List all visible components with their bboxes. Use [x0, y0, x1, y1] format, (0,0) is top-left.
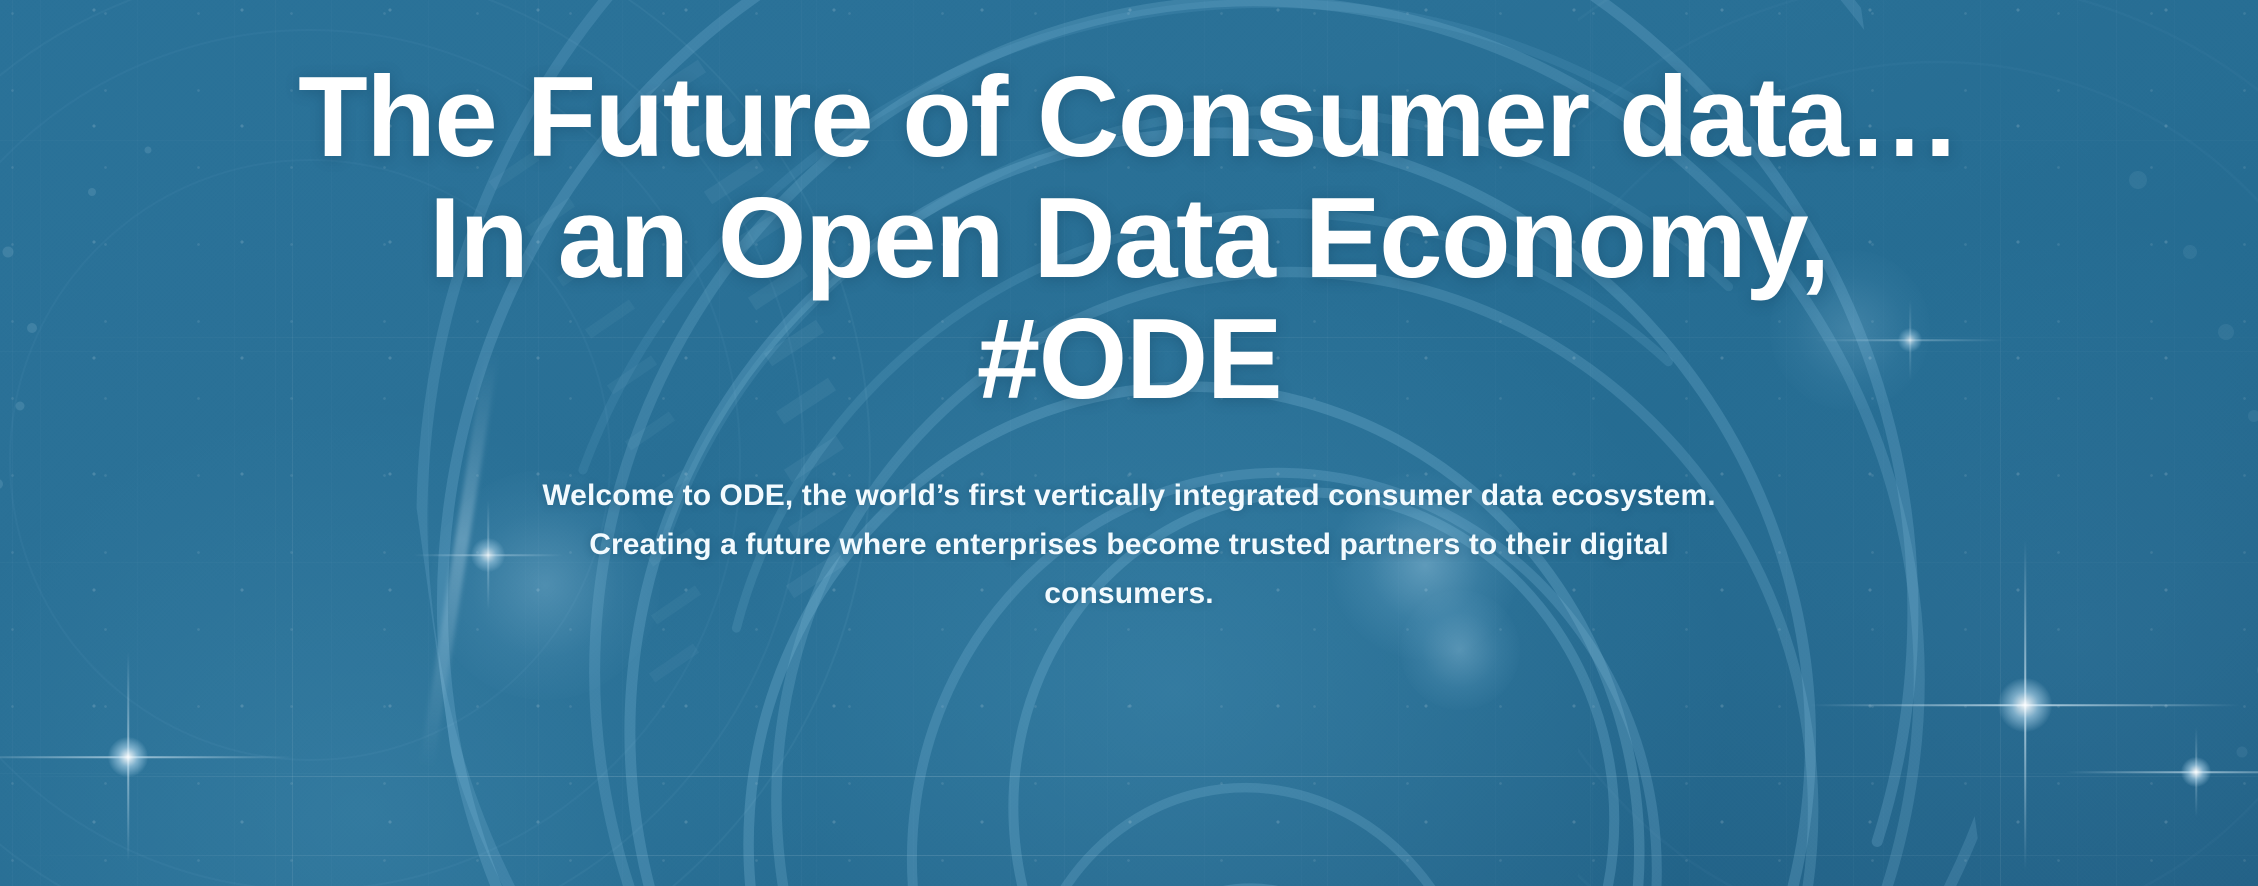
headline-line-1: The Future of Consumer data…	[0, 58, 2258, 179]
headline-line-3: #ODE	[0, 300, 2258, 421]
hero-banner: The Future of Consumer data… In an Open …	[0, 0, 2258, 886]
hero-subtitle: Welcome to ODE, the world’s first vertic…	[504, 472, 1754, 618]
page-title: The Future of Consumer data… In an Open …	[0, 58, 2258, 420]
hero-content: The Future of Consumer data… In an Open …	[0, 0, 2258, 886]
headline-line-2: In an Open Data Economy,	[0, 179, 2258, 300]
